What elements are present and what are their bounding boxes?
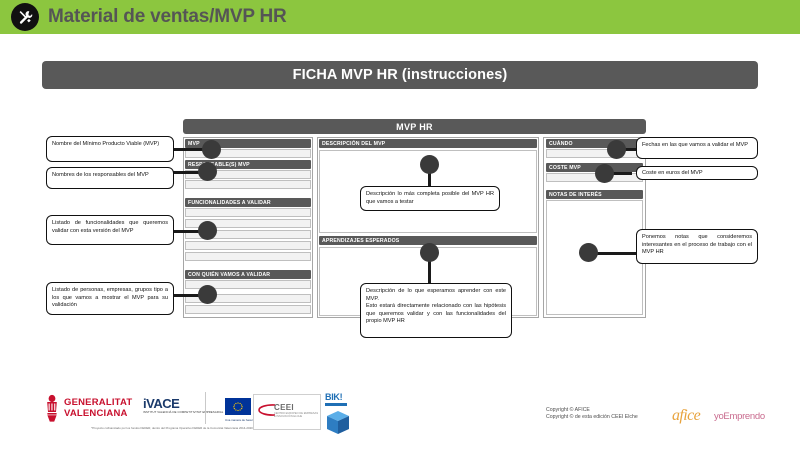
ceei-logo: CEEI CENTRO EUROPEO DE EMPRESAS E INNOVA…: [253, 394, 321, 430]
mvp-hr-banner: MVP HR: [183, 119, 646, 134]
connector-dot-mvp: [202, 140, 221, 159]
callout-con-quien: Listado de personas, empresas, grupos ti…: [46, 282, 174, 315]
callout-responsables: Nombres de los responsables del MVP: [46, 167, 174, 189]
connector-dot-descripcion: [420, 155, 439, 174]
section-header-descripcion-label: DESCRIPCIÓN DEL MVP: [319, 141, 385, 147]
section-header-cuando: CUÁNDO: [546, 139, 643, 148]
ivace-name: iVACE: [143, 397, 223, 410]
section-header-responsables-label: RESPONSABLE(S) MVP: [185, 162, 250, 168]
section-header-coste-label: COSTE MVP: [546, 165, 581, 171]
mvp-hr-banner-label: MVP HR: [396, 122, 433, 132]
footer: GENERALITAT VALENCIANA *Proyecto cofinan…: [0, 388, 800, 450]
section-header-aprendizajes-label: APRENDIZAJES ESPERADOS: [319, 238, 399, 244]
section-header-notas: NOTAS DE INTERÉS: [546, 190, 643, 199]
section-header-con-quien-label: CON QUIÉN VAMOS A VALIDAR: [185, 272, 270, 278]
connector-dot-aprendizajes: [420, 243, 439, 262]
section-header-descripcion: DESCRIPCIÓN DEL MVP: [319, 139, 537, 148]
ceei-subtitle: CENTRO EUROPEO DE EMPRESAS E INNOVACIÓN …: [274, 412, 320, 419]
callout-notas: Ponemos notas que consideremos interesan…: [636, 229, 758, 264]
connector-dot-funcionalidades: [198, 221, 217, 240]
callout-descripcion: Descripción lo más completa posible del …: [360, 186, 500, 211]
row-funcionalidades-4[interactable]: [185, 241, 311, 250]
callout-funcionalidades: Listado de funcionalidades que queremos …: [46, 215, 174, 245]
callout-cuando: Fechas en las que vamos a validar el MVP: [636, 137, 758, 159]
generalitat-line1: GENERALITAT: [64, 398, 132, 409]
yoemprendo-logo: yoEmprendo: [714, 411, 765, 422]
section-header-funcionalidades-label: FUNCIONALIDADES A VALIDAR: [185, 200, 271, 206]
callout-coste: Coste en euros del MVP: [636, 166, 758, 180]
copyright-line2: Copyright © de esta edición CEEI Elche: [546, 414, 638, 421]
section-header-notas-label: NOTAS DE INTERÉS: [546, 192, 602, 198]
bik-underline: [325, 403, 347, 406]
ficha-banner: FICHA MVP HR (instrucciones): [42, 61, 758, 89]
section-header-cuando-label: CUÁNDO: [546, 141, 573, 147]
generalitat-emblem-icon: [43, 394, 61, 422]
copyright-block: Copyright © AFICE Copyright © de esta ed…: [546, 407, 638, 421]
connector-dot-notas: [579, 243, 598, 262]
eu-flag-icon: [225, 398, 251, 415]
tools-icon: [11, 3, 39, 31]
callout-aprendizajes: Descripción de lo que esperamos aprender…: [360, 283, 512, 338]
app-header-bar: Material de ventas/MVP HR: [0, 0, 800, 34]
section-header-mvp-label: MVP: [185, 141, 200, 147]
connector-dot-cuando: [607, 140, 626, 159]
footer-divider: [205, 392, 206, 424]
connector-dot-con-quien: [198, 285, 217, 304]
callout-mvp: Nombre del Mínimo Producto Viable (MVP): [46, 136, 174, 162]
page-title: Material de ventas/MVP HR: [48, 4, 287, 30]
ceei-name: CEEI: [274, 403, 294, 412]
generalitat-line2: VALENCIANA: [64, 409, 132, 420]
generalitat-valenciana-logo: GENERALITAT VALENCIANA: [64, 398, 132, 419]
connector-dot-responsables: [198, 162, 217, 181]
row-funcionalidades-1[interactable]: [185, 208, 311, 217]
section-header-con-quien: CON QUIÉN VAMOS A VALIDAR: [185, 270, 311, 279]
ivace-logo: iVACE INSTITUT VALENCIÀ DE COMPETITIVITA…: [143, 397, 223, 415]
bik-name: BIK!: [325, 392, 361, 402]
row-funcionalidades-5[interactable]: [185, 252, 311, 261]
section-header-funcionalidades: FUNCIONALIDADES A VALIDAR: [185, 198, 311, 207]
connector-dot-coste: [595, 164, 614, 183]
afice-logo: afice: [672, 407, 700, 425]
ficha-banner-label: FICHA MVP HR (instrucciones): [293, 67, 508, 83]
row-responsables-2[interactable]: [185, 180, 311, 189]
ivace-subtitle: INSTITUT VALENCIÀ DE COMPETITIVITAT EMPR…: [143, 411, 223, 415]
bik-logo: BIK!: [325, 392, 361, 436]
bik-cube-icon: [325, 409, 351, 437]
row-con-quien-3[interactable]: [185, 305, 311, 314]
